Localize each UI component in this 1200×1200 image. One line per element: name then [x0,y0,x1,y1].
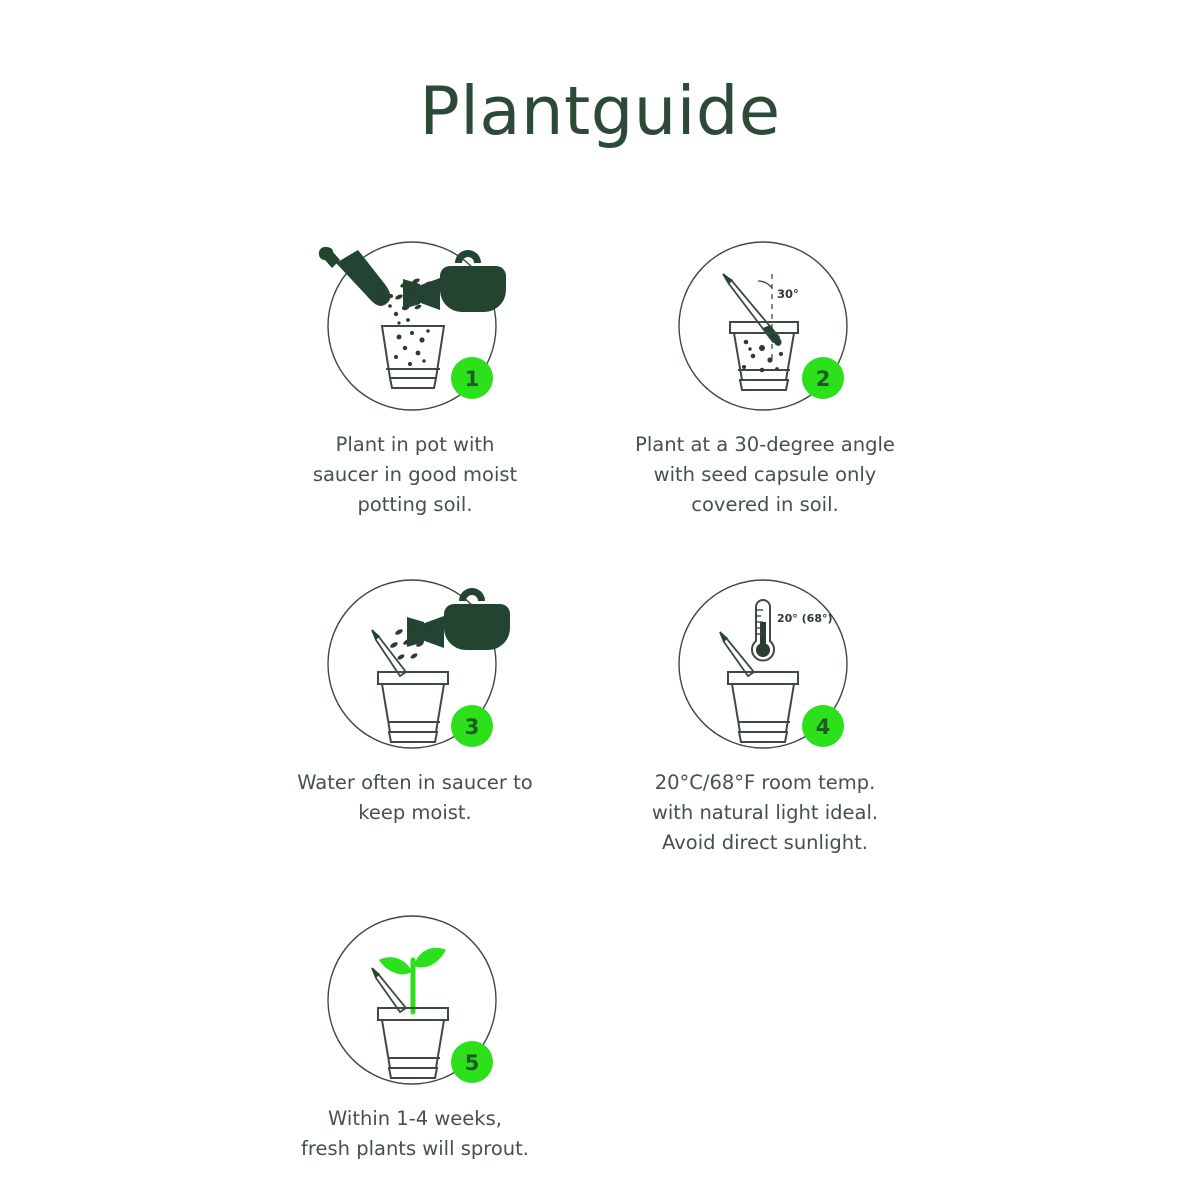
step-1: 1 Plant in pot with saucer in good moist… [240,236,590,520]
step-4-icon: 20° (68°) [650,574,880,754]
step-1-caption: Plant in pot with saucer in good moist p… [313,430,517,520]
seed-capsule-stick [372,968,406,1012]
step-badge-5: 5 [451,1041,493,1083]
step-number: 2 [816,367,831,391]
step-row-1: 1 Plant in pot with saucer in good moist… [240,236,980,520]
step-number: 1 [465,367,480,391]
soil-dots [742,338,783,372]
caption-line: with natural light ideal. [652,798,878,828]
trowel-icon [319,247,391,306]
step-5-caption: Within 1-4 weeks, fresh plants will spro… [301,1104,529,1164]
step-number: 4 [816,715,831,739]
step-2: 30° [590,236,940,520]
caption-line: Within 1-4 weeks, [301,1104,529,1134]
seed-capsule-stick [372,630,406,676]
thermometer-icon [752,600,774,660]
step-4: 20° (68°) [590,574,940,858]
page-title: Plantguide [0,72,1200,150]
seed-capsule-stick [723,274,781,346]
step-2-icon: 30° [650,236,880,416]
step-row-3: 5 Within 1-4 weeks, fresh plants will sp… [240,910,980,1164]
step-3: 3 Water often in saucer to keep moist. [240,574,590,828]
water-droplets [389,624,429,661]
watering-can-icon [407,588,510,650]
caption-line: Plant in pot with [313,430,517,460]
plant-pot-outline [728,672,798,742]
caption-line: Plant at a 30-degree angle [635,430,895,460]
plant-pot-outline [378,1008,448,1078]
step-row-2: 3 Water often in saucer to keep moist. [240,574,980,858]
steps-grid: 1 Plant in pot with saucer in good moist… [240,236,980,1164]
caption-line: 20°C/68°F room temp. [652,768,878,798]
caption-line: potting soil. [313,490,517,520]
plant-pot-outline [378,672,448,742]
plantguide-infographic: Plantguide [0,0,1200,1200]
plant-pot-outline [382,326,444,388]
step-badge-3: 3 [451,705,493,747]
step-badge-2: 2 [802,357,844,399]
caption-line: saucer in good moist [313,460,517,490]
step-2-caption: Plant at a 30-degree angle with seed cap… [635,430,895,520]
temperature-label: 20° (68°) [777,612,833,625]
caption-line: covered in soil. [635,490,895,520]
step-4-caption: 20°C/68°F room temp. with natural light … [652,768,878,858]
step-5-icon: 5 [300,910,530,1090]
plant-pot-outline [730,322,798,390]
water-droplets [395,277,433,311]
step-number: 3 [465,715,480,739]
step-badge-1: 1 [451,357,493,399]
angle-label: 30° [777,287,799,301]
step-1-icon: 1 [300,236,530,416]
caption-line: Avoid direct sunlight. [652,828,878,858]
step-badge-4: 4 [802,705,844,747]
step-3-icon: 3 [300,574,530,754]
sprout-leaves [379,948,446,1012]
angle-arc [758,281,772,288]
step-number: 5 [465,1051,480,1075]
soil-particles [388,304,430,366]
step-3-caption: Water often in saucer to keep moist. [297,768,532,828]
seed-capsule-stick [720,632,754,676]
caption-line: fresh plants will sprout. [301,1134,529,1164]
caption-line: Water often in saucer to [297,768,532,798]
caption-line: keep moist. [297,798,532,828]
step-5: 5 Within 1-4 weeks, fresh plants will sp… [240,910,590,1164]
caption-line: with seed capsule only [635,460,895,490]
